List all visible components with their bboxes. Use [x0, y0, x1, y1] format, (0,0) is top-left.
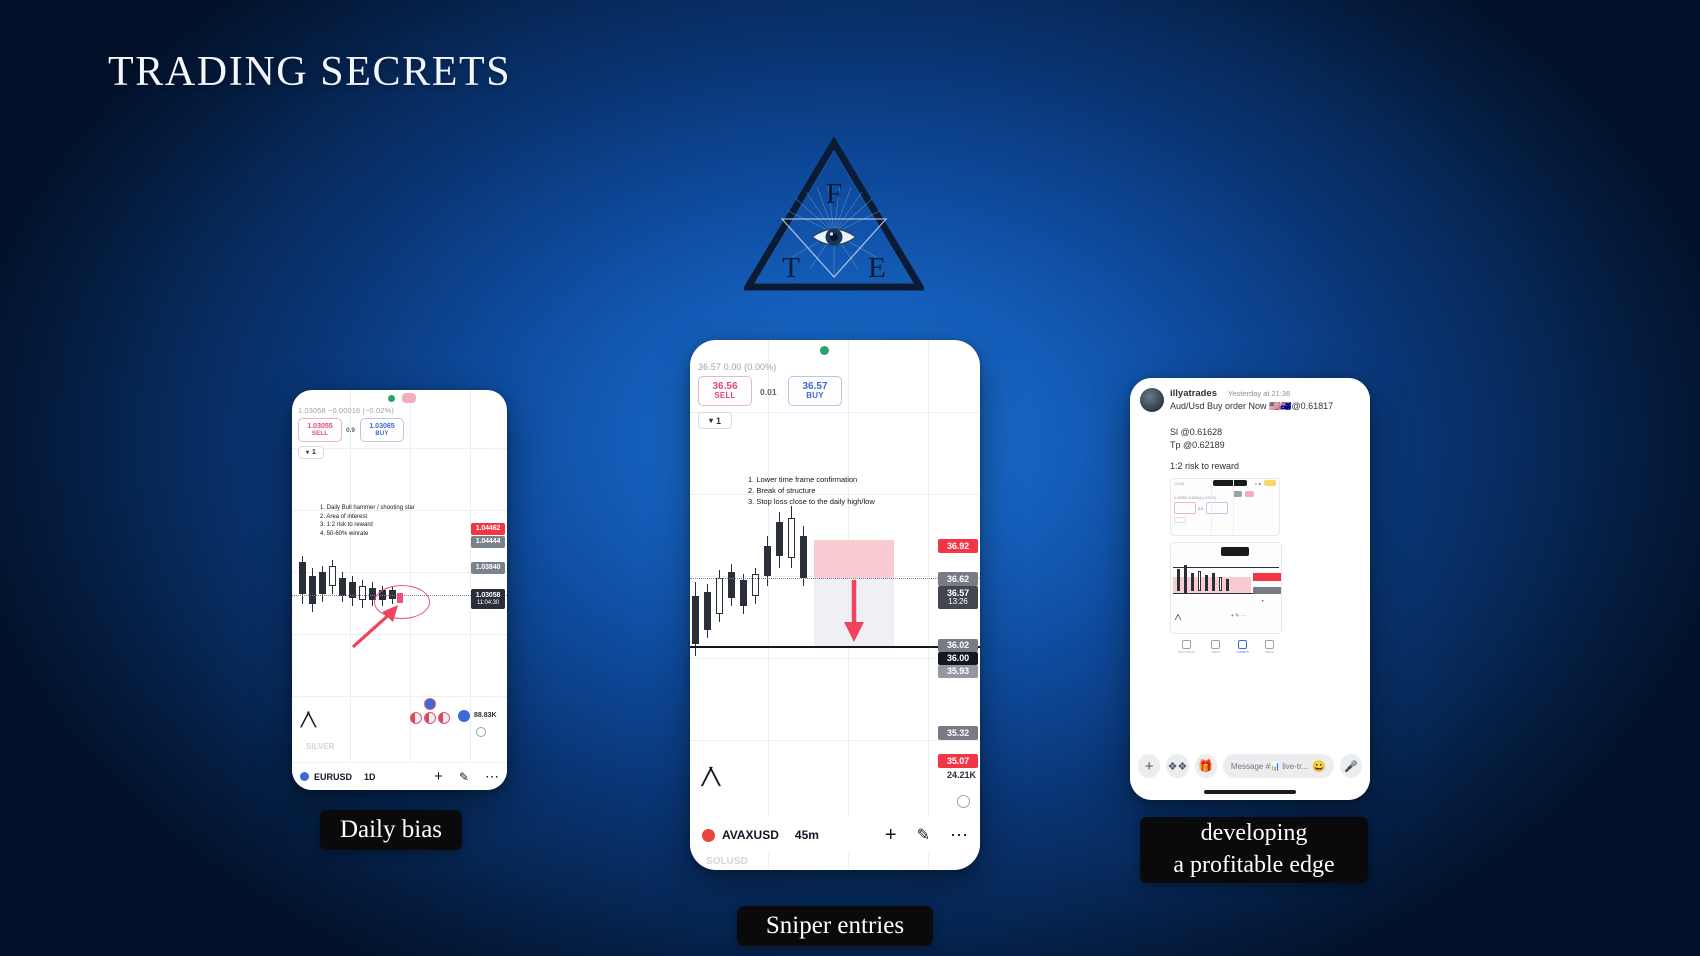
price-label-take-profit: 35.07 — [938, 754, 978, 768]
home-indicator — [1204, 790, 1296, 794]
price-label-text: 1.04462 — [476, 525, 501, 533]
logo-letter-t: T — [782, 252, 800, 284]
quantity-stepper[interactable]: ▾ 1 — [298, 446, 324, 459]
price-label-order-2: 1.03840 — [471, 562, 505, 574]
plus-icon[interactable]: + — [885, 825, 897, 845]
buy-label: BUY — [806, 392, 824, 400]
chevron-down-icon: ▾ — [709, 416, 713, 425]
message-input-placeholder: Message #📊 live-tr... — [1231, 762, 1308, 771]
price-label-target-low: 35.93 — [938, 665, 978, 678]
avatar[interactable] — [1140, 388, 1164, 412]
caption-line-1: developing — [1201, 818, 1308, 850]
short-arrow-down-icon — [842, 578, 866, 644]
buy-label: BUY — [375, 431, 388, 437]
quantity-stepper[interactable]: ▾ 1 — [698, 412, 732, 429]
message-username[interactable]: illyatrades — [1170, 388, 1217, 399]
timeframe-value[interactable]: 45m — [795, 828, 819, 842]
price-label-text: 1.04444 — [476, 538, 501, 546]
chart-annotation-mid: 1. Lower time frame confirmation 2. Brea… — [748, 475, 875, 508]
page-title: TRADING SECRETS — [108, 48, 511, 96]
price-label-support: 36.00 — [938, 652, 978, 665]
chart-eurusd[interactable]: 1.03058 −0.00016 (−0.02%) 1.03055 SELL 0… — [292, 390, 507, 790]
caption-developing-edge: developing a profitable edge — [1140, 817, 1368, 883]
settings-gear-icon[interactable] — [476, 727, 486, 737]
sticker-icon[interactable]: ❖❖ — [1166, 754, 1188, 778]
reaction-flag-icon[interactable] — [424, 712, 436, 724]
watchlist-prev-symbol[interactable]: SILVER — [306, 742, 334, 751]
symbol-name[interactable]: AVAXUSD — [722, 828, 779, 842]
phone-right-discord[interactable]: illyatrades Yesterday at 21:36 Aud/Usd B… — [1130, 378, 1370, 800]
chevron-down-icon: ▾ — [306, 449, 309, 456]
tradingview-logo: ╱╲ — [702, 767, 718, 787]
logo-letter-f: F — [826, 178, 842, 210]
phone-left-tradingview[interactable]: 1.03058 −0.00016 (−0.02%) 1.03055 SELL 0… — [292, 390, 507, 790]
price-label-time: 13:26 — [948, 598, 968, 607]
caption-daily-bias: Daily bias — [320, 810, 462, 850]
price-label-text: 36.00 — [947, 653, 969, 663]
buy-button[interactable]: 36.57 BUY — [788, 376, 842, 406]
sell-label: SELL — [312, 431, 328, 437]
message-line-2: Sl @0.61628 — [1170, 426, 1222, 440]
quantity-value: 1 — [716, 416, 721, 426]
stop-loss-zone — [814, 540, 894, 578]
message-embed-image-2[interactable]: ▼ ╱╲ + ✎ ⋯ — [1170, 542, 1282, 634]
watchlist-next-symbol[interactable]: SOLUSD — [706, 856, 748, 867]
price-label-order-line: 35.32 — [938, 726, 978, 740]
sell-button[interactable]: 1.03055 SELL — [298, 418, 342, 442]
price-label-text: 35.32 — [947, 728, 969, 738]
fte-pyramid-eye-logo: F T E — [744, 137, 924, 292]
settings-gear-icon[interactable] — [957, 795, 970, 808]
more-icon[interactable]: ⋯ — [485, 773, 499, 780]
spread-value: 0.9 — [346, 427, 355, 434]
caption-sniper-entries: Sniper entries — [737, 906, 933, 946]
message-embed-footer-strip: WATCHLIST IDEAS CHARTS MENU — [1170, 636, 1282, 658]
price-label-last: 36.57 13:26 — [938, 586, 978, 609]
price-label-text: 1.03058 — [476, 592, 501, 600]
status-badge-pink — [402, 393, 416, 403]
quote-line: 36.57 0.00 (0.00%) — [698, 362, 776, 372]
price-label-order-1: 1.04444 — [471, 536, 505, 548]
price-label-text: 36.92 — [947, 541, 969, 551]
sell-label: SELL — [714, 392, 735, 400]
price-label-text: 35.93 — [947, 666, 969, 676]
volume-bubble-icon — [458, 710, 470, 722]
phone-mid-tradingview[interactable]: 36.57 0.00 (0.00%) 36.56 SELL 0.01 36.57… — [690, 340, 980, 870]
sell-price: 1.03055 — [307, 423, 332, 430]
mic-icon[interactable]: 🎤 — [1340, 754, 1362, 778]
price-label-stop-loss: 36.92 — [938, 539, 978, 553]
symbol-name[interactable]: EURUSD — [314, 772, 352, 782]
price-label-text: 1.03840 — [476, 564, 501, 572]
message-line-1: Aud/Usd Buy order Now 🇺🇸🇦🇺@0.61817 — [1170, 400, 1333, 414]
sell-button[interactable]: 36.56 SELL — [698, 376, 752, 406]
message-embed-image-1[interactable]: 29:58 ◐ ● 1.03058 -0.00016 (-0.02%) 0.9 — [1170, 478, 1280, 536]
timeframe-value[interactable]: 1D — [364, 772, 376, 782]
pointer-arrow-icon — [350, 602, 402, 650]
status-dot-green — [388, 395, 395, 402]
price-label-last: 1.03058 11:04:30 — [471, 589, 505, 609]
price-label-text: 36.62 — [947, 574, 969, 584]
support-line — [690, 646, 980, 648]
buy-button[interactable]: 1.03065 BUY — [360, 418, 404, 442]
caption-line-2: a profitable edge — [1173, 850, 1334, 882]
message-input-bar[interactable]: + ❖❖ 🎁 Message #📊 live-tr... 😀 🎤 — [1130, 746, 1370, 786]
status-dot-green — [820, 346, 829, 355]
volume-value: 24.21K — [947, 770, 976, 780]
symbol-icon — [702, 829, 715, 842]
logo-letter-e: E — [868, 252, 886, 284]
price-label-time: 11:04:30 — [477, 600, 499, 607]
price-label-text: 36.02 — [947, 640, 969, 650]
price-line-dashed — [690, 578, 980, 579]
message-timestamp: Yesterday at 21:36 — [1228, 389, 1290, 398]
reaction-row[interactable] — [410, 698, 450, 724]
message-line-3: Tp @0.62189 — [1170, 439, 1225, 453]
plus-icon[interactable]: + — [434, 769, 443, 784]
plus-icon[interactable]: + — [1138, 754, 1160, 778]
message-line-4: 1:2 risk to reward — [1170, 460, 1239, 474]
discord-channel-view[interactable]: illyatrades Yesterday at 21:36 Aud/Usd B… — [1130, 378, 1370, 800]
price-label-text: 35.07 — [947, 756, 969, 766]
gift-icon[interactable]: 🎁 — [1195, 754, 1217, 778]
chart-annotation-left: 1. Daily Bull hammer / shooting star 2. … — [320, 504, 415, 539]
emoji-icon[interactable]: 😀 — [1312, 760, 1326, 773]
price-label-resistance: 1.04462 — [471, 523, 505, 535]
pencil-icon[interactable]: ✎ — [459, 770, 469, 784]
toolbar-left-phone[interactable]: EURUSD 1D + ✎ ⋯ — [292, 762, 507, 790]
volume-value: 88.83K — [474, 712, 497, 719]
price-label-target: 36.02 — [938, 639, 978, 652]
symbol-icon — [300, 772, 309, 781]
quantity-value: 1 — [312, 449, 316, 456]
toolbar-mid-phone[interactable]: AVAXUSD 45m + ✎ ⋯ — [690, 817, 980, 853]
tradingview-logo: ╱╲ — [301, 712, 315, 728]
reaction-flag-icon[interactable] — [438, 712, 450, 724]
price-label-entry-top: 36.62 — [938, 572, 978, 586]
chart-avaxusd[interactable]: 36.57 0.00 (0.00%) 36.56 SELL 0.01 36.57… — [690, 340, 980, 870]
spread-value: 0.01 — [760, 387, 777, 397]
reaction-flag-icon[interactable] — [410, 712, 422, 724]
more-icon[interactable]: ⋯ — [950, 831, 968, 840]
quote-line: 1.03058 −0.00016 (−0.02%) — [298, 406, 394, 415]
message-input[interactable]: Message #📊 live-tr... 😀 — [1223, 754, 1334, 778]
buy-price: 1.03065 — [369, 423, 394, 430]
pencil-icon[interactable]: ✎ — [917, 825, 930, 845]
